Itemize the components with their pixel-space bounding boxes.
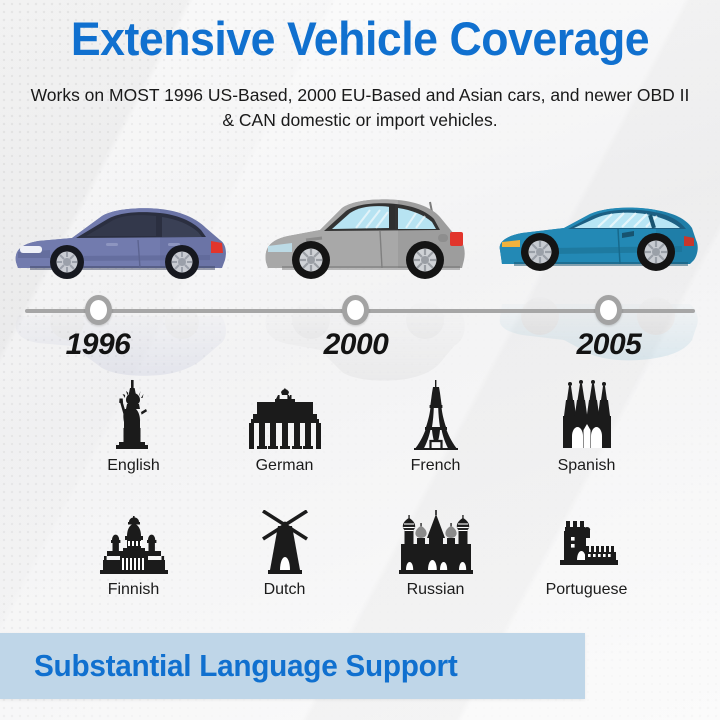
language-label: Portuguese bbox=[546, 582, 628, 598]
language-support-grid: English bbox=[0, 378, 720, 598]
vehicle-blue-sedan-1996 bbox=[10, 200, 228, 292]
timeline-node-2005[interactable] bbox=[595, 295, 622, 325]
language-label: French bbox=[411, 458, 461, 474]
language-row-2: Finnish bbox=[0, 508, 720, 598]
belem-tower-icon bbox=[550, 508, 624, 574]
infographic-page: Extensive Vehicle Coverage Works on MOST… bbox=[0, 0, 720, 720]
statue-of-liberty-icon bbox=[105, 378, 163, 450]
timeline-node-2000[interactable] bbox=[342, 295, 369, 325]
language-support-banner: Substantial Language Support bbox=[0, 633, 585, 699]
timeline-year-1996: 1996 bbox=[18, 328, 178, 362]
language-label: Russian bbox=[407, 582, 465, 598]
windmill-icon bbox=[254, 508, 316, 574]
language-label: Spanish bbox=[558, 458, 616, 474]
timeline-node-1996[interactable] bbox=[85, 295, 112, 325]
page-subtitle: Works on MOST 1996 US-Based, 2000 EU-Bas… bbox=[30, 83, 690, 134]
language-label: Finnish bbox=[108, 582, 160, 598]
eiffel-tower-icon bbox=[410, 378, 462, 450]
vehicle-blue-coupe-2005 bbox=[494, 202, 702, 284]
saint-basils-cathedral-icon bbox=[395, 508, 477, 574]
language-label: English bbox=[107, 458, 159, 474]
page-title: Extensive Vehicle Coverage bbox=[18, 14, 702, 63]
language-item-russian[interactable]: Russian bbox=[360, 508, 511, 598]
language-label: Dutch bbox=[264, 582, 306, 598]
language-item-dutch[interactable]: Dutch bbox=[209, 508, 360, 598]
vehicle-year-timeline: 1996 2000 2005 bbox=[0, 290, 720, 370]
helsinki-cathedral-icon bbox=[95, 508, 173, 574]
language-label: German bbox=[256, 458, 314, 474]
timeline-year-2000: 2000 bbox=[276, 328, 436, 362]
vehicle-silver-hatchback-2000 bbox=[262, 190, 474, 290]
language-item-finnish[interactable]: Finnish bbox=[58, 508, 209, 598]
language-row-1: English bbox=[0, 378, 720, 474]
language-item-french[interactable]: French bbox=[360, 378, 511, 474]
timeline-year-2005: 2005 bbox=[529, 328, 689, 362]
language-item-portuguese[interactable]: Portuguese bbox=[511, 508, 662, 598]
banner-title: Substantial Language Support bbox=[34, 648, 457, 684]
language-item-english[interactable]: English bbox=[58, 378, 209, 474]
brandenburg-gate-icon bbox=[245, 378, 325, 450]
language-item-spanish[interactable]: Spanish bbox=[511, 378, 662, 474]
sagrada-familia-icon bbox=[557, 378, 617, 450]
language-item-german[interactable]: German bbox=[209, 378, 360, 474]
